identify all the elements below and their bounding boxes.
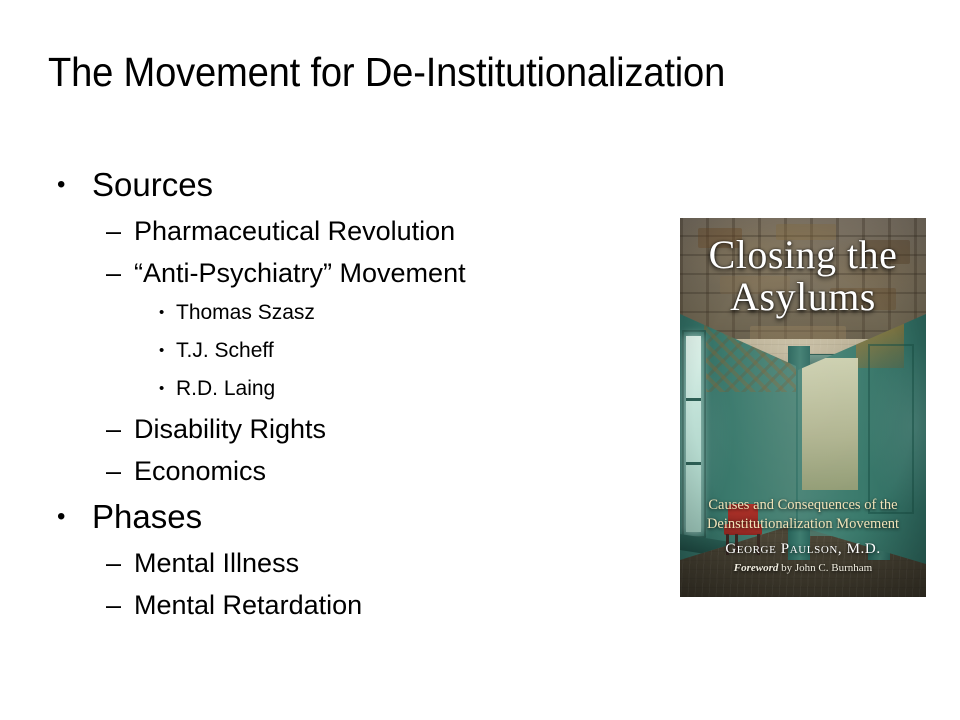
bullet-marker: •: [159, 332, 164, 370]
list-item-label: “Anti-Psychiatry” Movement: [134, 252, 466, 294]
list-item: – Pharmaceutical Revolution: [0, 210, 660, 252]
list-item-label: Thomas Szasz: [176, 294, 315, 332]
list-item-label: T.J. Scheff: [176, 332, 274, 370]
dash-marker: –: [106, 542, 121, 584]
book-subtitle: Causes and Consequences of the Deinstitu…: [690, 496, 916, 534]
bullet-marker: •: [57, 492, 65, 542]
book-cover-text: Closing the Asylums Causes and Consequen…: [680, 218, 926, 597]
list-item-label: Sources: [92, 160, 213, 210]
dash-marker: –: [106, 450, 121, 492]
list-item-label: R.D. Laing: [176, 370, 275, 408]
dash-marker: –: [106, 252, 121, 294]
list-item-label: Phases: [92, 492, 202, 542]
list-item-label: Economics: [134, 450, 266, 492]
slide: The Movement for De-Institutionalization…: [0, 0, 960, 720]
bullet-marker: •: [159, 294, 164, 332]
list-item: • Phases: [0, 492, 660, 542]
book-title: Closing the Asylums: [680, 234, 926, 318]
list-item-label: Disability Rights: [134, 408, 326, 450]
list-item: – Mental Illness: [0, 542, 660, 584]
list-item: – Mental Retardation: [0, 584, 660, 626]
list-item: • Sources: [0, 160, 660, 210]
bullet-marker: •: [57, 160, 65, 210]
book-author: George Paulson, M.D.: [680, 540, 926, 558]
list-item: – “Anti-Psychiatry” Movement: [0, 252, 660, 294]
list-item: – Disability Rights: [0, 408, 660, 450]
book-subtitle-line2: Deinstitutionalization Movement: [690, 515, 916, 534]
bullet-list: • Sources – Pharmaceutical Revolution – …: [0, 160, 660, 626]
book-title-line1: Closing the: [709, 232, 898, 277]
list-item: • R.D. Laing: [0, 370, 660, 408]
list-item: – Economics: [0, 450, 660, 492]
dash-marker: –: [106, 408, 121, 450]
book-foreword-credit: Foreword by John C. Burnham: [680, 561, 926, 575]
list-item: • Thomas Szasz: [0, 294, 660, 332]
list-item-label: Mental Illness: [134, 542, 299, 584]
list-item-label: Mental Retardation: [134, 584, 362, 626]
bullet-marker: •: [159, 370, 164, 408]
list-item-label: Pharmaceutical Revolution: [134, 210, 455, 252]
dash-marker: –: [106, 210, 121, 252]
book-subtitle-line1: Causes and Consequences of the: [708, 497, 897, 513]
list-item: • T.J. Scheff: [0, 332, 660, 370]
foreword-label: Foreword: [734, 562, 779, 574]
page-title: The Movement for De-Institutionalization: [48, 47, 857, 97]
book-title-line2: Asylums: [680, 276, 926, 318]
dash-marker: –: [106, 584, 121, 626]
foreword-author: by John C. Burnham: [778, 562, 872, 574]
book-cover-image: Closing the Asylums Causes and Consequen…: [680, 218, 926, 597]
